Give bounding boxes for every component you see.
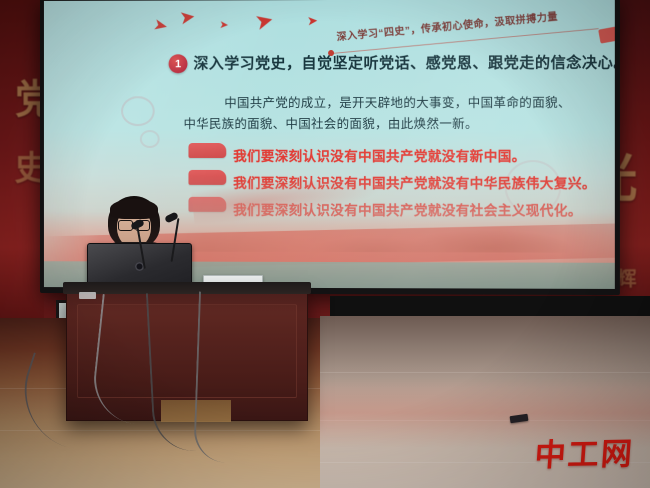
- slide-header-text: 深入学习“四史”，传承初心使命，汲取拼搏力量: [336, 8, 559, 44]
- microphone-neck: [171, 218, 180, 262]
- bullet-marker-1: [188, 143, 226, 158]
- slide-body-line-1: 中国共产党的成立，是开天辟地的大事变，中国革命的面貌、: [224, 92, 571, 111]
- slide-title: 深入学习党史，自觉坚定听党话、感党恩、跟党走的信念决心。: [193, 51, 614, 73]
- section-number-badge: 1: [169, 54, 188, 73]
- slide-bullet-1: 我们要深刻认识没有中国共产党就没有新中国。: [233, 145, 526, 165]
- presenter-bangs: [110, 199, 158, 219]
- dove-icon: ➤: [178, 7, 196, 28]
- screenshot-root: 党 史 光 辉 ➤ ➤ ➤ ➤ ➤: [0, 0, 650, 488]
- slide-body-line-2: 中华民族的面貌、中国社会的面貌，由此焕然一新。: [184, 113, 478, 132]
- dove-icon: ➤: [219, 20, 229, 32]
- header-accent-tab: [598, 23, 615, 43]
- microphone-neck: [136, 225, 146, 269]
- dove-icon: ➤: [307, 14, 319, 28]
- floor-seam: [320, 372, 650, 373]
- podium-badge: [79, 292, 96, 299]
- microphone: [152, 218, 192, 264]
- slide-circle-2: [140, 130, 160, 148]
- cable: [193, 291, 231, 462]
- slide-circle-1: [121, 96, 155, 126]
- dove-icon: ➤: [152, 17, 170, 36]
- watermark-logo: 中工网: [533, 428, 635, 475]
- dove-icon: ➤: [253, 8, 276, 34]
- microphone-secondary: [118, 225, 148, 267]
